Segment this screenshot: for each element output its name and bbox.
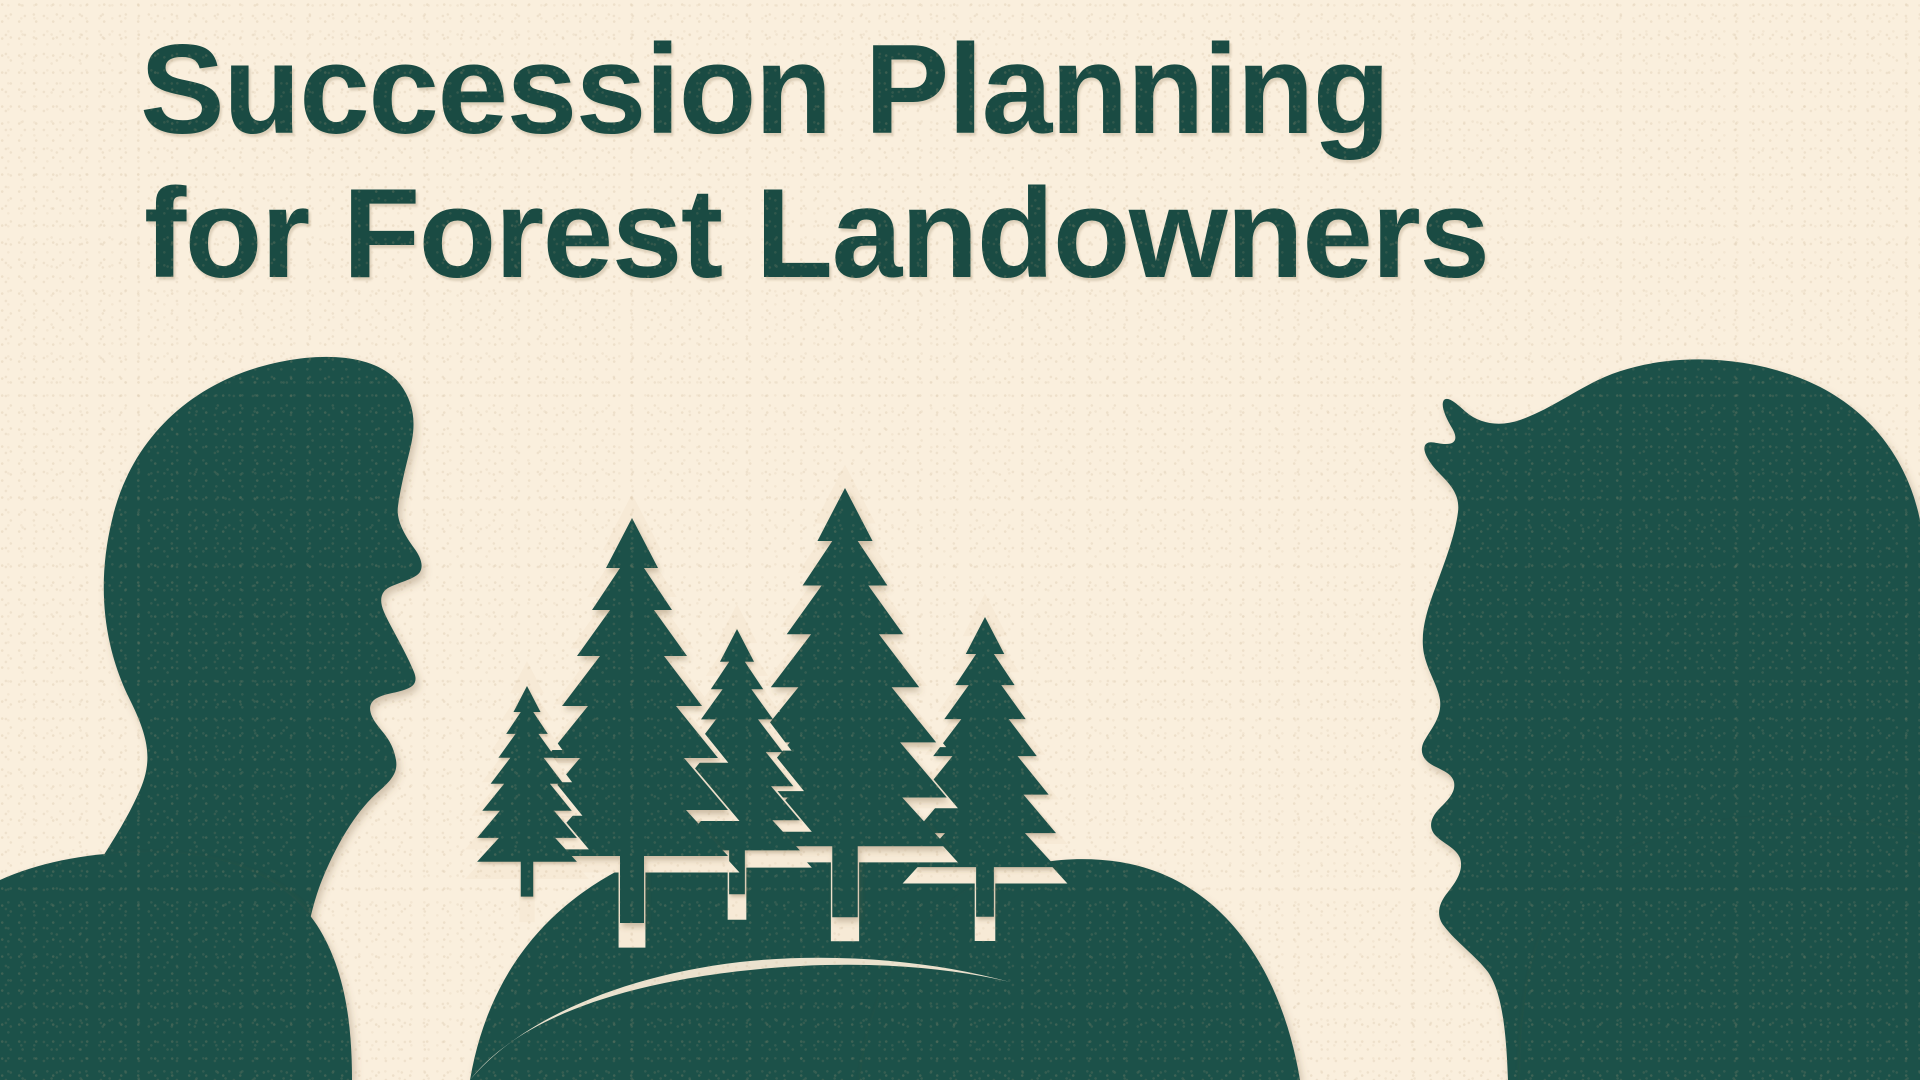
title-line-1: Succession Planning: [140, 18, 1920, 162]
title-line-2: for Forest Landowners: [140, 162, 1920, 306]
right-person-silhouette-facing-left: [1422, 359, 1920, 1080]
poster-canvas: Succession Planning for Forest Landowner…: [0, 0, 1920, 1080]
poster-title: Succession Planning for Forest Landowner…: [0, 18, 1920, 305]
left-person-silhouette-facing-right: [0, 357, 422, 1080]
